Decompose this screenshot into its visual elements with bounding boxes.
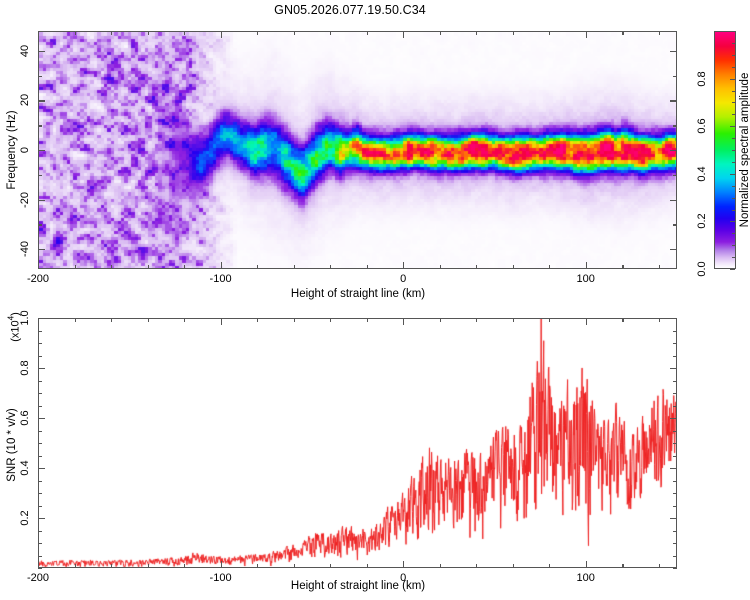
x-major-tick-top: [586, 318, 587, 325]
colorbar-minor-tick: [732, 43, 735, 44]
x-minor-tick-top: [184, 31, 185, 35]
y-major-tick-right: [670, 249, 677, 250]
colorbar-minor-tick: [732, 102, 735, 103]
x-minor-tick: [622, 564, 623, 568]
x-minor-tick: [440, 564, 441, 568]
y-minor-tick-right: [673, 393, 677, 394]
colorbar-major-tick: [730, 79, 735, 80]
snr-line-series: [39, 319, 677, 568]
x-minor-tick: [367, 265, 368, 269]
x-minor-tick-top: [330, 31, 331, 35]
colorbar-minor-tick: [732, 91, 735, 92]
y-major-tick-right: [670, 318, 677, 319]
x-tick-label: -100: [210, 572, 232, 584]
y-minor-tick-right: [673, 531, 677, 532]
colorbar-minor-tick: [732, 245, 735, 246]
x-minor-tick-top: [476, 31, 477, 35]
y-minor-tick: [38, 443, 42, 444]
y-minor-tick-right: [673, 493, 677, 494]
y-minor-tick-right: [673, 175, 677, 176]
x-tick-label: 0: [400, 273, 406, 285]
y-major-tick-right: [670, 200, 677, 201]
y-tick-label: 40: [19, 45, 31, 57]
x-minor-tick: [148, 564, 149, 568]
x-minor-tick: [513, 265, 514, 269]
y-major-tick-right: [670, 100, 677, 101]
spectrogram-image: [39, 32, 677, 269]
y-minor-tick-right: [673, 224, 677, 225]
y-major-tick: [38, 418, 45, 419]
y-major-tick: [38, 468, 45, 469]
x-minor-tick-top: [367, 31, 368, 35]
x-minor-tick-top: [659, 318, 660, 322]
x-tick-label: -200: [27, 273, 49, 285]
x-minor-tick-top: [330, 318, 331, 322]
y-minor-tick-right: [673, 331, 677, 332]
y-major-tick: [38, 200, 45, 201]
x-minor-tick-top: [440, 318, 441, 322]
y-minor-tick-right: [673, 556, 677, 557]
y-minor-tick: [38, 543, 42, 544]
x-major-tick-top: [403, 31, 404, 38]
colorbar-minor-tick: [732, 257, 735, 258]
colorbar-major-tick: [730, 126, 735, 127]
spectrogram-axes: [38, 31, 677, 269]
x-major-tick-top: [38, 31, 39, 38]
x-minor-tick-top: [257, 31, 258, 35]
x-major-tick: [403, 561, 404, 568]
x-minor-tick: [294, 564, 295, 568]
y-major-tick-right: [670, 51, 677, 52]
y-minor-tick: [38, 76, 42, 77]
x-major-tick: [586, 561, 587, 568]
y-tick-label: 20: [19, 94, 31, 106]
x-major-tick-top: [403, 318, 404, 325]
y-major-tick-right: [670, 418, 677, 419]
colorbar-minor-tick: [732, 150, 735, 151]
x-major-tick-top: [586, 31, 587, 38]
y-minor-tick-right: [673, 568, 677, 569]
snr-y-axis-title: SNR (10 * v/v): [6, 408, 18, 482]
snr-y-axis-multiplier: (x104): [7, 312, 22, 342]
x-tick-label: 100: [577, 572, 595, 584]
x-major-tick: [38, 561, 39, 568]
x-minor-tick-top: [622, 31, 623, 35]
y-minor-tick-right: [673, 443, 677, 444]
x-minor-tick: [476, 564, 477, 568]
y-major-tick: [38, 249, 45, 250]
x-minor-tick-top: [622, 318, 623, 322]
x-minor-tick: [75, 564, 76, 568]
colorbar-minor-tick: [732, 114, 735, 115]
multiplier-base: (x10: [9, 320, 21, 341]
y-minor-tick-right: [673, 431, 677, 432]
x-tick-label: -100: [210, 273, 232, 285]
y-tick-label: 0: [19, 147, 31, 153]
x-minor-tick-top: [440, 31, 441, 35]
y-tick-label: 0.6: [19, 410, 31, 425]
x-minor-tick-top: [111, 31, 112, 35]
x-major-tick: [221, 262, 222, 269]
y-minor-tick-right: [673, 76, 677, 77]
x-minor-tick-top: [513, 318, 514, 322]
y-major-tick-right: [670, 368, 677, 369]
colorbar-minor-tick: [732, 210, 735, 211]
y-minor-tick: [38, 406, 42, 407]
x-minor-tick-top: [294, 31, 295, 35]
colorbar-minor-tick: [732, 186, 735, 187]
colorbar-minor-tick: [732, 162, 735, 163]
colorbar-major-tick: [730, 269, 735, 270]
x-minor-tick: [549, 564, 550, 568]
x-major-tick: [586, 262, 587, 269]
x-minor-tick: [622, 265, 623, 269]
colorbar-tick-label: 0.2: [696, 214, 708, 229]
x-minor-tick: [257, 265, 258, 269]
spectrogram-x-axis-title: Height of straight line (km): [291, 288, 425, 300]
colorbar-major-tick: [730, 221, 735, 222]
x-major-tick: [403, 262, 404, 269]
y-minor-tick-right: [673, 456, 677, 457]
y-minor-tick: [38, 381, 42, 382]
y-minor-tick-right: [673, 543, 677, 544]
colorbar-minor-tick: [732, 67, 735, 68]
x-major-tick: [221, 561, 222, 568]
x-minor-tick-top: [294, 318, 295, 322]
y-minor-tick: [38, 493, 42, 494]
y-minor-tick: [38, 431, 42, 432]
colorbar-tick-label: 0.4: [696, 166, 708, 181]
x-minor-tick-top: [513, 31, 514, 35]
x-major-tick-top: [221, 31, 222, 38]
y-minor-tick-right: [673, 125, 677, 126]
y-minor-tick: [38, 175, 42, 176]
y-tick-label: -40: [19, 241, 31, 257]
x-minor-tick-top: [184, 318, 185, 322]
y-tick-label: 0.2: [19, 510, 31, 525]
colorbar-minor-tick: [732, 138, 735, 139]
spectrogram-y-axis-title: Frequency (Hz): [6, 110, 18, 189]
colorbar-major-tick: [730, 174, 735, 175]
x-minor-tick: [659, 564, 660, 568]
y-minor-tick-right: [673, 343, 677, 344]
x-minor-tick-top: [75, 318, 76, 322]
x-minor-tick-top: [111, 318, 112, 322]
colorbar-tick-label: 0.0: [696, 261, 708, 276]
y-major-tick-right: [670, 150, 677, 151]
y-major-tick: [38, 318, 45, 319]
y-minor-tick: [38, 481, 42, 482]
y-minor-tick: [38, 356, 42, 357]
y-major-tick: [38, 368, 45, 369]
x-minor-tick: [111, 265, 112, 269]
colorbar-title: Normalized spectral amplitude: [739, 73, 750, 228]
y-minor-tick-right: [673, 406, 677, 407]
x-minor-tick: [659, 265, 660, 269]
y-minor-tick: [38, 343, 42, 344]
x-minor-tick-top: [148, 31, 149, 35]
x-minor-tick: [330, 564, 331, 568]
y-tick-label: 0.4: [19, 460, 31, 475]
x-minor-tick: [184, 564, 185, 568]
colorbar-minor-tick: [732, 55, 735, 56]
y-minor-tick: [38, 556, 42, 557]
x-minor-tick-top: [476, 318, 477, 322]
y-major-tick: [38, 51, 45, 52]
colorbar-minor-tick: [732, 31, 735, 32]
x-minor-tick: [476, 265, 477, 269]
y-minor-tick: [38, 456, 42, 457]
y-minor-tick-right: [673, 481, 677, 482]
snr-axes: [38, 318, 677, 568]
y-major-tick: [38, 100, 45, 101]
y-tick-label: 0.8: [19, 360, 31, 375]
x-minor-tick-top: [367, 318, 368, 322]
figure-title: GN05.2026.077.19.50.C34: [0, 3, 700, 17]
y-minor-tick: [38, 224, 42, 225]
x-minor-tick: [184, 265, 185, 269]
x-minor-tick: [330, 265, 331, 269]
x-minor-tick: [294, 265, 295, 269]
y-minor-tick: [38, 125, 42, 126]
y-major-tick-right: [670, 468, 677, 469]
x-minor-tick-top: [75, 31, 76, 35]
x-major-tick-top: [221, 318, 222, 325]
x-minor-tick-top: [549, 31, 550, 35]
multiplier-exponent: 4: [7, 316, 16, 320]
x-minor-tick: [513, 564, 514, 568]
colorbar-tick-label: 0.8: [696, 71, 708, 86]
colorbar-minor-tick: [732, 233, 735, 234]
x-minor-tick: [111, 564, 112, 568]
y-major-tick: [38, 150, 45, 151]
y-major-tick: [38, 518, 45, 519]
y-minor-tick: [38, 506, 42, 507]
x-minor-tick-top: [659, 31, 660, 35]
x-minor-tick: [549, 265, 550, 269]
x-tick-label: 100: [577, 273, 595, 285]
y-minor-tick-right: [673, 506, 677, 507]
figure-canvas: GN05.2026.077.19.50.C34 -200-1000100-40-…: [0, 0, 750, 600]
y-minor-tick: [38, 568, 42, 569]
x-major-tick: [38, 262, 39, 269]
x-minor-tick-top: [549, 318, 550, 322]
multiplier-close: ): [9, 312, 21, 316]
snr-x-axis-title: Height of straight line (km): [291, 580, 425, 592]
colorbar-minor-tick: [732, 198, 735, 199]
x-minor-tick: [440, 265, 441, 269]
x-minor-tick-top: [257, 318, 258, 322]
y-major-tick-right: [670, 518, 677, 519]
y-minor-tick-right: [673, 356, 677, 357]
y-minor-tick-right: [673, 381, 677, 382]
y-tick-label: -20: [19, 192, 31, 208]
x-minor-tick: [148, 265, 149, 269]
x-tick-label: -200: [27, 572, 49, 584]
y-minor-tick: [38, 331, 42, 332]
y-minor-tick: [38, 531, 42, 532]
colorbar-tick-label: 0.6: [696, 119, 708, 134]
x-minor-tick: [367, 564, 368, 568]
x-minor-tick: [75, 265, 76, 269]
y-minor-tick: [38, 393, 42, 394]
x-minor-tick: [257, 564, 258, 568]
x-minor-tick-top: [148, 318, 149, 322]
